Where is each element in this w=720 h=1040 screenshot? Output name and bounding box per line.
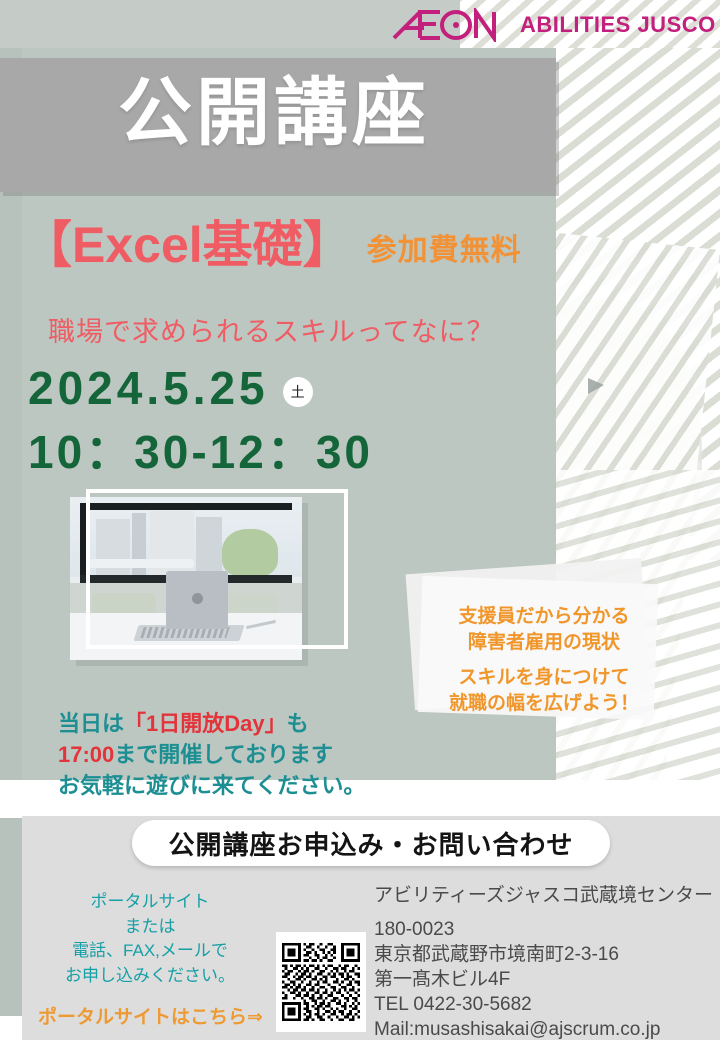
- postal-code: 180-0023: [374, 917, 714, 942]
- note-card-text: 支援員だから分かる 障害者雇用の現状 スキルを身につけて 就職の幅を広げよう！: [434, 604, 654, 717]
- address-line-1: 東京都武蔵野市境南町2-3-16: [374, 942, 714, 967]
- course-heading: 【Excel基礎】 参加費無料: [22, 220, 522, 270]
- day-of-week-badge: 土: [283, 377, 313, 407]
- email-address: Mail:musashisakai@ajscrum.co.jp: [374, 1017, 714, 1040]
- address-line-2: 第一髙木ビル4F: [374, 967, 714, 992]
- portal-link-label[interactable]: ポータルサイトはこちら⇒: [38, 1002, 263, 1029]
- portal-qr-code[interactable]: [276, 932, 366, 1032]
- course-subtitle: 職場で求められるスキルってなに？: [48, 310, 495, 349]
- title-banner: 公開講座: [0, 58, 556, 192]
- photo-window-frame: [80, 503, 292, 510]
- background-triangle-accent: [588, 378, 604, 394]
- aeon-logo: [390, 8, 498, 42]
- open-day-line-1: 当日は「1日開放Day」も: [58, 708, 365, 739]
- telephone: TEL 0422-30-5682: [374, 992, 714, 1017]
- photo-building: [96, 519, 130, 577]
- organization-address: 180-0023 東京都武蔵野市境南町2-3-16 第一髙木ビル4F TEL 0…: [374, 917, 714, 1040]
- date-row: 2024.5.25 土: [28, 360, 373, 418]
- open-day-message: 当日は「1日開放Day」も 17:00まで開催しております お気軽に遊びに来てく…: [58, 708, 365, 802]
- photo-laptop-logo: [192, 593, 203, 604]
- portal-line-1: ポータルサイト: [40, 890, 260, 915]
- application-inquiry-label: 公開講座お申込み・お問い合わせ: [168, 825, 573, 862]
- event-time: 10：30-12：30: [28, 424, 373, 482]
- open-day-seg-2: 「1日開放Day」: [124, 711, 287, 736]
- open-day-seg-3: も: [287, 711, 309, 736]
- open-day-seg-6: お気軽に遊びに来てください。: [58, 770, 365, 801]
- note-spacer: [434, 655, 654, 665]
- banner-title: 公開講座: [118, 76, 430, 150]
- open-day-seg-4: 17:00: [58, 742, 114, 767]
- office-photo: [70, 497, 302, 660]
- event-date: 2024.5.25: [28, 360, 269, 418]
- schedule-block: 2024.5.25 土 10：30-12：30: [28, 360, 373, 481]
- note-line-3: スキルを身につけて: [458, 667, 629, 688]
- application-inquiry-banner: 公開講座お申込み・お問い合わせ: [132, 820, 610, 866]
- note-line-2: 障害者雇用の現状: [468, 632, 620, 653]
- open-day-seg-1: 当日は: [58, 711, 124, 736]
- photo-building: [196, 517, 222, 577]
- photo-tree: [222, 529, 278, 577]
- portal-line-3: 電話、FAX,メールで: [40, 939, 260, 964]
- organization-contact: アビリティーズジャスコ武蔵境センター 180-0023 東京都武蔵野市境南町2-…: [374, 884, 714, 1040]
- note-line-1: 支援員だから分かる: [458, 606, 629, 627]
- poster-root: ABILITIES JUSCO 公開講座 【Excel基礎】 参加費無料 職場で…: [0, 0, 720, 1040]
- open-day-seg-5: まで開催しております: [114, 742, 333, 767]
- photo-rail: [84, 559, 194, 568]
- portal-line-4: お申し込みください。: [40, 964, 260, 989]
- portal-instructions: ポータルサイト または 電話、FAX,メールで お申し込みください。: [40, 890, 260, 989]
- photo-window-frame: [80, 503, 87, 583]
- course-title: 【Excel基礎】: [22, 220, 353, 270]
- free-participation-label: 参加費無料: [367, 236, 522, 270]
- organization-name: アビリティーズジャスコ武蔵境センター: [374, 884, 714, 909]
- open-day-line-2: 17:00まで開催しております: [58, 739, 365, 770]
- brand-lockup: ABILITIES JUSCO: [390, 8, 716, 42]
- brand-name: ABILITIES JUSCO: [520, 12, 716, 38]
- note-line-4: 就職の幅を広げよう！: [449, 693, 639, 714]
- photo-image: [70, 497, 302, 660]
- portal-line-2: または: [40, 915, 260, 940]
